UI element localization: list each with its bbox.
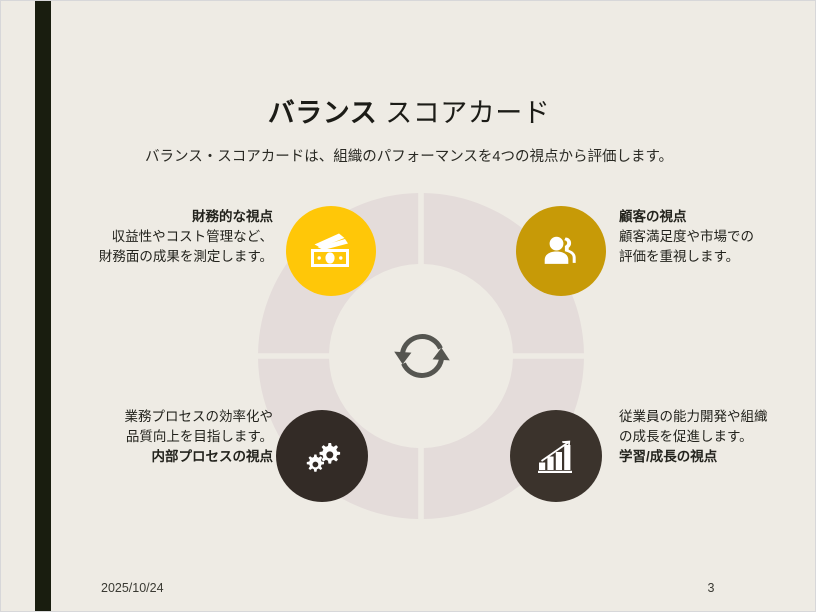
quadrant-label-financial: 財務的な視点 収益性やコスト管理など、 財務面の成果を測定します。	[21, 207, 273, 267]
quadrant-heading-process: 内部プロセスの視点	[21, 447, 273, 467]
quadrant-node-financial[interactable]	[286, 206, 376, 296]
quadrant-line1-learning: 従業員の能力開発や組織	[619, 407, 816, 427]
quadrant-label-learning: 従業員の能力開発や組織 の成長を促進します。 学習/成長の視点	[619, 407, 816, 467]
quadrant-line1-customer: 顧客満足度や市場での	[619, 227, 816, 247]
refresh-cycle-icon	[389, 323, 455, 389]
quadrant-label-process: 業務プロセスの効率化や 品質向上を目指します。 内部プロセスの視点	[21, 407, 273, 467]
bar-chart-growth-icon	[535, 436, 577, 476]
quadrant-node-customer[interactable]	[516, 206, 606, 296]
page-title-light: スコアカード	[377, 98, 550, 128]
footer-page-number: 3	[691, 581, 731, 595]
quadrant-node-learning[interactable]	[510, 410, 602, 502]
quadrant-label-customer: 顧客の視点 顧客満足度や市場での 評価を重視します。	[619, 207, 816, 267]
quadrant-line2-process: 品質向上を目指します。	[21, 427, 273, 447]
slide-canvas: バランス スコアカード バランス・スコアカードは、組織のパフォーマンスを4つの視…	[0, 0, 816, 612]
gears-cogs-icon	[300, 435, 344, 477]
cash-money-icon	[308, 231, 354, 271]
quadrant-heading-learning: 学習/成長の視点	[619, 447, 816, 467]
quadrant-node-process[interactable]	[276, 410, 368, 502]
quadrant-line2-financial: 財務面の成果を測定します。	[21, 247, 273, 267]
footer-date: 2025/10/24	[101, 581, 164, 595]
quadrant-line2-learning: の成長を促進します。	[619, 427, 816, 447]
quadrant-heading-financial: 財務的な視点	[21, 207, 273, 227]
page-subtitle: バランス・スコアカードは、組織のパフォーマンスを4つの視点から評価します。	[1, 145, 816, 166]
users-people-icon	[540, 231, 582, 271]
page-title-strong: バランス	[268, 98, 377, 128]
quadrant-line1-financial: 収益性やコスト管理など、	[21, 227, 273, 247]
quadrant-heading-customer: 顧客の視点	[619, 207, 816, 227]
quadrant-line1-process: 業務プロセスの効率化や	[21, 407, 273, 427]
quadrant-line2-customer: 評価を重視します。	[619, 247, 816, 267]
page-title: バランス スコアカード	[1, 91, 816, 130]
